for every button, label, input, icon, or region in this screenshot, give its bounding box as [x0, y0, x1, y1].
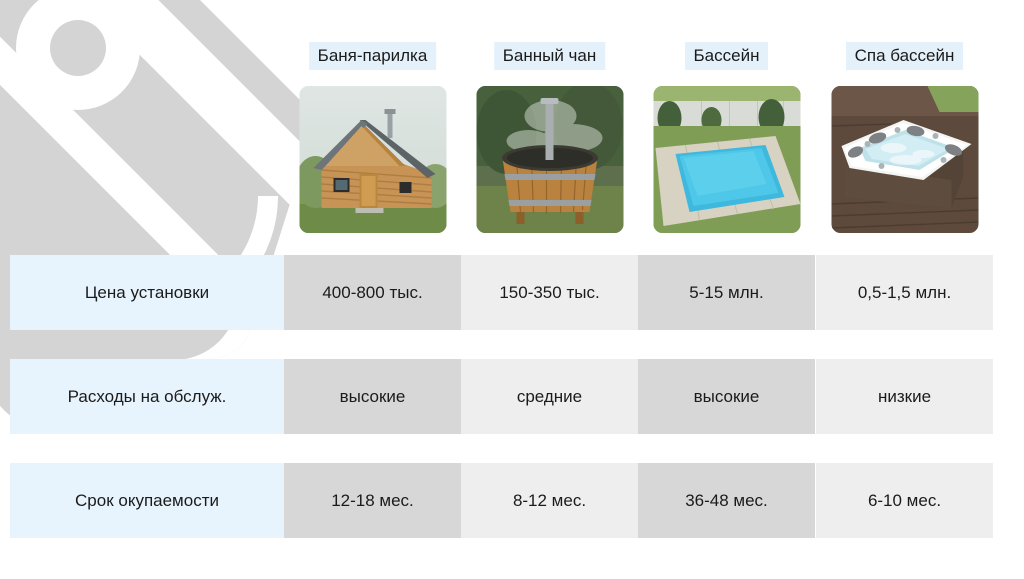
cell-r2c3: высокие [638, 359, 815, 434]
row-label-1: Цена установки [10, 255, 284, 330]
cell-r2c2: средние [461, 359, 638, 434]
column-title-4: Спа бассейн [846, 42, 964, 70]
table-row: Срок окупаемости 12-18 мес. 8-12 мес. 36… [0, 463, 1024, 538]
cell-r1c2: 150-350 тыс. [461, 255, 638, 330]
column-title-2: Банный чан [494, 42, 606, 70]
table-header-row: Баня-парилка [0, 0, 1024, 250]
spa-jacuzzi-photo [831, 86, 978, 233]
table-row: Цена установки 400-800 тыс. 150-350 тыс.… [0, 255, 1024, 330]
cell-r3c2: 8-12 мес. [461, 463, 638, 538]
cell-r2c1: высокие [284, 359, 461, 434]
cell-r3c1: 12-18 мес. [284, 463, 461, 538]
cell-r1c3: 5-15 млн. [638, 255, 815, 330]
cell-r1c1: 400-800 тыс. [284, 255, 461, 330]
column-title-1: Баня-парилка [309, 42, 437, 70]
cell-r3c4: 6-10 мес. [816, 463, 993, 538]
log-sauna-photo [299, 86, 446, 233]
comparison-table-page: Баня-парилка [0, 0, 1024, 579]
header-cell-3: Бассейн [638, 0, 815, 250]
column-title-3: Бассейн [685, 42, 769, 70]
table-row: Расходы на обслуж. высокие средние высок… [0, 359, 1024, 434]
row-label-2: Расходы на обслуж. [10, 359, 284, 434]
header-cell-1: Баня-парилка [284, 0, 461, 250]
cell-r1c4: 0,5-1,5 млн. [816, 255, 993, 330]
header-cell-2: Банный чан [461, 0, 638, 250]
header-cell-4: Спа бассейн [816, 0, 993, 250]
wooden-hot-tub-photo [476, 86, 623, 233]
row-label-3: Срок окупаемости [10, 463, 284, 538]
swimming-pool-photo [653, 86, 800, 233]
cell-r3c3: 36-48 мес. [638, 463, 815, 538]
cell-r2c4: низкие [816, 359, 993, 434]
